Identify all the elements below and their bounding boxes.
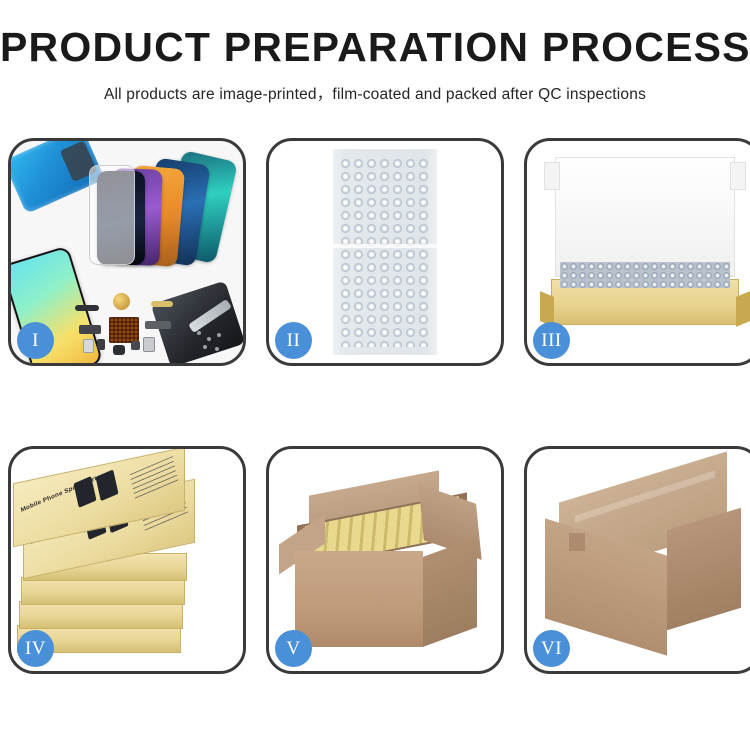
bubble-pattern: [339, 157, 431, 347]
step-panel-6: VI: [524, 446, 750, 674]
box-spec-lines-back: [130, 456, 179, 500]
step-panel-3: III: [524, 138, 750, 366]
logic-board-part: [109, 317, 139, 343]
flex-cable-part: [151, 301, 173, 307]
open-shipping-carton: [295, 497, 477, 647]
step-badge-5: V: [275, 630, 312, 667]
small-components: [73, 293, 203, 363]
bubble-wrap-pouch: [333, 149, 437, 355]
product-preparation-infographic: PRODUCT PREPARATION PROCESS All products…: [0, 0, 750, 750]
camera-module-part: [145, 321, 171, 329]
pouch-seam: [333, 244, 437, 248]
carton-corner-tab: [569, 533, 585, 551]
page-subtitle: All products are image-printed，film-coat…: [0, 82, 750, 104]
sensor-part: [131, 341, 140, 350]
mailer-tray: [551, 279, 739, 325]
step-badge-1: I: [17, 322, 54, 359]
earpiece-part: [75, 305, 99, 311]
tray-bubble-contents: [560, 262, 730, 288]
screen-protector-glass: [89, 165, 135, 265]
step-badge-3: III: [533, 322, 570, 359]
speaker-part: [79, 325, 101, 334]
carton-side-face: [667, 508, 741, 631]
step-panel-1: I: [8, 138, 246, 366]
button-part: [97, 339, 105, 350]
step-panel-4: Mobile Phone Spare Parts Mobile Phone Sp…: [8, 446, 246, 674]
box-stack: Mobile Phone Spare Parts Mobile Phone Sp…: [13, 463, 243, 653]
process-step-grid: I II III: [8, 138, 742, 674]
box-screen-image-d: [95, 469, 118, 501]
speaker-coil-part: [113, 293, 130, 310]
mailer-lid: [555, 157, 735, 277]
box-layer-3: [21, 577, 185, 605]
step-badge-2: II: [275, 322, 312, 359]
vibrator-part: [113, 345, 125, 355]
carton-side-face: [423, 537, 477, 647]
tray-right-flap: [736, 291, 750, 327]
step-panel-2: II: [266, 138, 504, 366]
carton-front-face: [295, 551, 423, 647]
step-panel-5: V: [266, 446, 504, 674]
box-layer-2: [19, 601, 183, 629]
header: PRODUCT PREPARATION PROCESS All products…: [0, 0, 750, 104]
step-badge-6: VI: [533, 630, 570, 667]
sealed-shipping-carton: [545, 477, 741, 647]
page-title: PRODUCT PREPARATION PROCESS: [0, 27, 750, 68]
connector-part: [83, 339, 94, 353]
step-badge-4: IV: [17, 630, 54, 667]
screws-group: [197, 331, 227, 353]
sim-tray-part: [143, 337, 155, 352]
